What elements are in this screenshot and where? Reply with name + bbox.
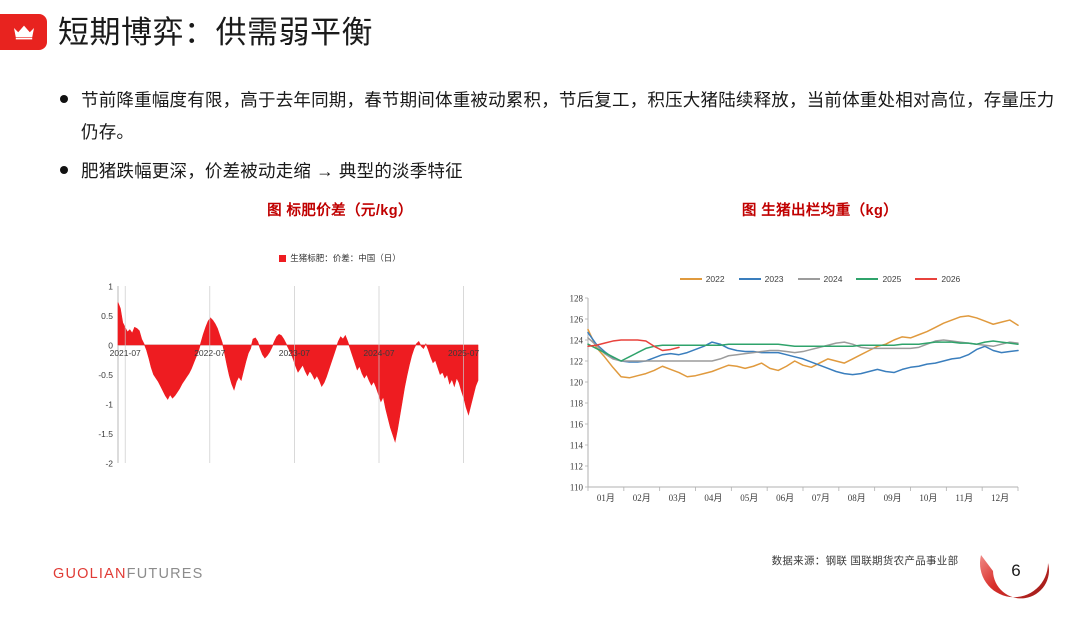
y-axis-tick-label: 114 [570, 441, 584, 451]
x-axis-tick-label: 04月 [704, 493, 722, 503]
x-axis-tick-label: 08月 [848, 493, 866, 503]
page-number: 6 [977, 561, 1055, 581]
y-axis-tick-label: 118 [570, 399, 584, 409]
bullet-list: 节前降重幅度有限，高于去年同期，春节期间体重被动累积，节后复工，积压大猪陆续释放… [60, 84, 1060, 193]
bullet-dot-icon [60, 166, 68, 174]
y-axis-tick-label: -1 [105, 400, 113, 410]
bullet-dot-icon [60, 95, 68, 103]
x-axis-tick-label: 05月 [740, 493, 758, 503]
y-axis-tick-label: -2 [105, 459, 113, 469]
list-item: 节前降重幅度有限，高于去年同期，春节期间体重被动累积，节后复工，积压大猪陆续释放… [60, 84, 1060, 149]
x-axis-tick-label: 11月 [955, 493, 973, 503]
x-axis-tick-label: 09月 [884, 493, 902, 503]
x-axis-tick-label: 2021-07 [110, 348, 141, 358]
y-axis-tick-label: 120 [570, 378, 584, 388]
slide-header: 短期博弈：供需弱平衡 [0, 14, 373, 50]
legend-line-icon [798, 278, 820, 280]
legend-label: 2025 [882, 274, 901, 284]
legend-item-2026: 2026 [915, 274, 960, 284]
left-chart-legend: 生猪标肥：价差：中国（日） [140, 252, 540, 264]
y-axis-tick-label: 112 [570, 462, 583, 472]
line-series-2024 [588, 338, 1018, 361]
legend-item-2024: 2024 [798, 274, 843, 284]
y-axis-tick-label: -1.5 [98, 429, 113, 439]
list-item: 肥猪跌幅更深，价差被动走缩 → 典型的淡季特征 [60, 155, 1060, 187]
x-axis-tick-label: 2023-07 [279, 348, 310, 358]
crown-icon [13, 24, 35, 40]
brand-primary: GUOLIAN [53, 566, 127, 582]
legend-item-2023: 2023 [739, 274, 784, 284]
bullet-text: 肥猪跌幅更深，价差被动走缩 → 典型的淡季特征 [81, 155, 463, 187]
y-axis-tick-label: 0.5 [101, 311, 113, 321]
legend-line-icon [915, 278, 937, 280]
x-axis-tick-label: 07月 [812, 493, 830, 503]
legend-line-icon [856, 278, 878, 280]
x-axis-tick-label: 10月 [919, 493, 937, 503]
swoosh-icon [977, 545, 1080, 627]
legend-label: 2026 [941, 274, 960, 284]
right-chart-area: 11011211411611812012212412612801月02月03月0… [556, 292, 1026, 517]
x-axis-tick-label: 2022-07 [194, 348, 225, 358]
x-axis-tick-label: 03月 [669, 493, 687, 503]
x-axis-tick-label: 12月 [991, 493, 1009, 503]
x-axis-tick-label: 2025-07 [448, 348, 479, 358]
slide: 短期博弈：供需弱平衡 节前降重幅度有限，高于去年同期，春节期间体重被动累积，节后… [0, 0, 1080, 627]
legend-swatch-icon [279, 255, 286, 262]
y-axis-tick-label: 126 [570, 315, 584, 325]
y-axis-tick-label: 124 [570, 336, 584, 346]
legend-item-2022: 2022 [680, 274, 725, 284]
data-source-note: 数据来源：钢联 国联期货农产品事业部 [740, 553, 990, 568]
brand-secondary: FUTURES [127, 566, 204, 582]
right-chart-title: 图 生猪出栏均重（kg） [610, 199, 1030, 220]
y-axis-tick-label: 128 [570, 294, 584, 304]
y-axis-tick-label: 110 [570, 483, 584, 493]
left-chart-title: 图 标肥价差（元/kg） [140, 199, 540, 220]
brand-logo: GUOLIANFUTURES [53, 566, 204, 582]
y-axis-tick-label: 122 [570, 357, 584, 367]
legend-label: 2024 [824, 274, 843, 284]
x-axis-tick-label: 06月 [776, 493, 794, 503]
page-title: 短期博弈：供需弱平衡 [58, 17, 373, 48]
line-series-2023 [588, 333, 1018, 375]
x-axis-tick-label: 2024-07 [363, 348, 394, 358]
left-chart-area: 10.50-0.5-1-1.5-22021-072022-072023-0720… [84, 278, 484, 493]
legend-item-2025: 2025 [856, 274, 901, 284]
page-number-badge: 6 [977, 545, 1080, 627]
area-series [118, 303, 478, 442]
y-axis-tick-label: 1 [108, 282, 113, 292]
x-axis-tick-label: 02月 [633, 493, 651, 503]
legend-line-icon [680, 278, 702, 280]
y-axis-tick-label: 116 [570, 420, 584, 430]
legend-label: 2023 [765, 274, 784, 284]
legend-line-icon [739, 278, 761, 280]
right-chart-legend: 20222023202420252026 [600, 272, 1040, 284]
legend-label: 2022 [706, 274, 725, 284]
y-axis-tick-label: -0.5 [98, 370, 113, 380]
bullet-text: 节前降重幅度有限，高于去年同期，春节期间体重被动累积，节后复工，积压大猪陆续释放… [81, 84, 1060, 149]
x-axis-tick-label: 01月 [597, 493, 615, 503]
crown-badge [0, 14, 47, 50]
legend-label: 生猪标肥：价差：中国（日） [290, 253, 401, 263]
